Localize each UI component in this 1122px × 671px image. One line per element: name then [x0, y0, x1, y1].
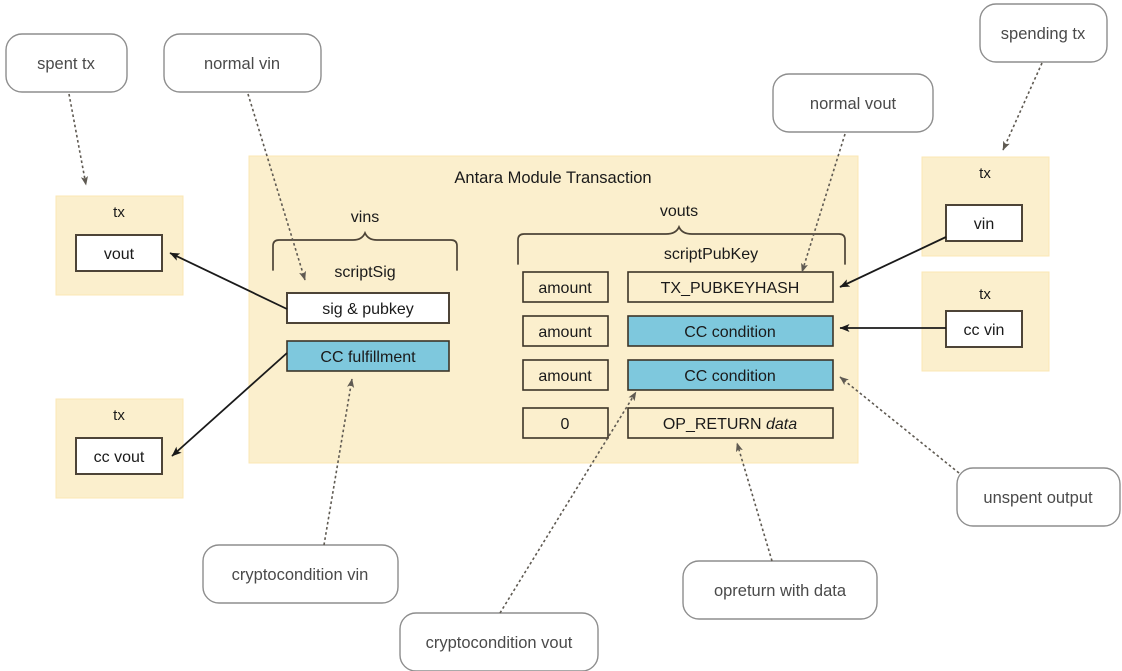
vin-box-label: vin — [974, 216, 994, 233]
vout-opreturn-data: data — [766, 416, 797, 433]
vout-box-label: vout — [104, 246, 135, 263]
callout-cryptocondition-vout-label: cryptocondition vout — [426, 634, 573, 652]
callout-unspent-output-label: unspent output — [983, 489, 1093, 507]
antara-transaction-diagram: Antara Module Transaction tx vout tx cc … — [0, 0, 1122, 671]
cc-fulfillment-label: CC fulfillment — [320, 349, 416, 366]
vout-amount-label-1: amount — [538, 280, 592, 297]
spending-cc-tx-box-title: tx — [979, 286, 991, 303]
callout-normal-vin-label: normal vin — [204, 55, 280, 73]
vout-script-label-2: CC condition — [684, 324, 776, 341]
vout-amount-label-3: amount — [538, 368, 592, 385]
vout-amount-label-4: 0 — [561, 416, 570, 433]
sig-and-pubkey-label: sig & pubkey — [322, 301, 414, 318]
vins-group-label: vins — [351, 209, 379, 226]
callout-cryptocondition-vin-label: cryptocondition vin — [232, 566, 369, 584]
spending-tx-box-title: tx — [979, 165, 991, 182]
callout-spent-tx-label: spent tx — [37, 55, 96, 73]
vout-opreturn-label: OP_RETURN data — [663, 416, 797, 433]
scriptsig-label: scriptSig — [334, 264, 395, 281]
vout-opreturn-text: OP_RETURN — [663, 416, 766, 433]
diagram-root: Antara Module Transaction tx vout tx cc … — [0, 0, 1122, 671]
cc-vout-box-label: cc vout — [94, 449, 145, 466]
vout-script-label-3: CC condition — [684, 368, 776, 385]
spent-cc-tx-box-title: tx — [113, 407, 125, 424]
leader-spending-tx — [1003, 63, 1042, 150]
vout-amount-label-2: amount — [538, 324, 592, 341]
leader-spent-tx — [69, 94, 86, 185]
vouts-group-label: vouts — [660, 203, 698, 220]
panel-title: Antara Module Transaction — [454, 169, 651, 187]
spent-tx-box-title: tx — [113, 204, 125, 221]
cc-vin-box-label: cc vin — [964, 322, 1005, 339]
callout-normal-vout-label: normal vout — [810, 95, 897, 113]
callout-spending-tx-label: spending tx — [1001, 25, 1086, 43]
scriptpubkey-label: scriptPubKey — [664, 246, 758, 263]
vout-script-label-1: TX_PUBKEYHASH — [661, 280, 800, 297]
callout-opreturn-with-data-label: opreturn with data — [714, 582, 847, 600]
